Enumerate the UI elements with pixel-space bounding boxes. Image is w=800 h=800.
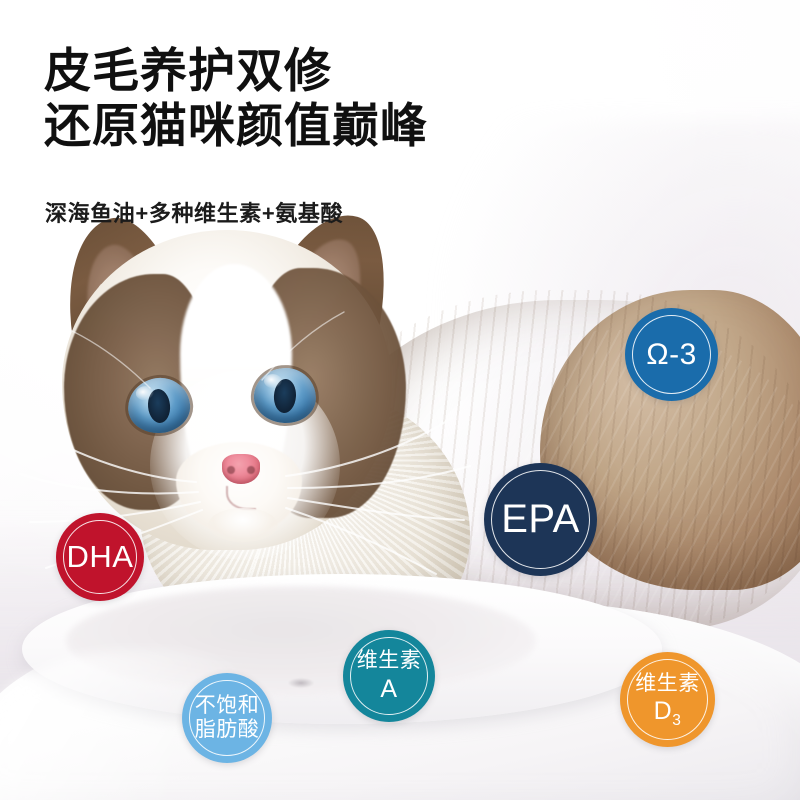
badge-vita-line-1: 维生素 — [357, 649, 422, 672]
subtitle: 深海鱼油+多种维生素+氨基酸 — [45, 196, 343, 228]
bowl-speck — [288, 678, 314, 688]
badge-vitd-letter: D — [654, 697, 673, 725]
badge-vitamin-a-label: 维生素 A — [355, 648, 424, 703]
badge-unsaturated-fatty-acid[interactable]: 不饱和 脂肪酸 — [182, 673, 272, 763]
badge-vitd-subscript: 3 — [672, 712, 681, 729]
badge-dha[interactable]: DHA — [56, 513, 144, 601]
badge-vitamin-d3[interactable]: 维生素 D3 — [620, 652, 715, 747]
badge-unsaturated-fatty-acid-label: 不饱和 脂肪酸 — [193, 694, 262, 743]
headline-line-2: 还原猫咪颜值巅峰 — [44, 99, 428, 154]
badge-dha-label: DHA — [65, 541, 136, 573]
badge-vitd-line-1: 维生素 — [635, 672, 700, 695]
badge-epa[interactable]: EPA — [484, 463, 597, 576]
badge-ufa-line-1: 不饱和 — [195, 694, 260, 717]
headline-line-1: 皮毛养护双修 — [44, 44, 428, 99]
cat-nose — [222, 454, 260, 484]
headline: 皮毛养护双修 还原猫咪颜值巅峰 — [44, 44, 428, 154]
product-banner: 皮毛养护双修 还原猫咪颜值巅峰 深海鱼油+多种维生素+氨基酸 DHA EPA Ω… — [0, 0, 800, 800]
badge-omega-3-label: Ω-3 — [644, 339, 699, 370]
badge-vita-line-2: A — [357, 674, 422, 704]
badge-epa-label: EPA — [499, 499, 582, 541]
nostril-left — [227, 466, 235, 474]
nostril-right — [247, 466, 255, 474]
badge-ufa-line-2: 脂肪酸 — [195, 718, 260, 741]
badge-vitamin-a[interactable]: 维生素 A — [343, 630, 435, 722]
badge-omega-3[interactable]: Ω-3 — [625, 308, 718, 401]
badge-vitd-line-2: D3 — [635, 696, 700, 729]
badge-vitamin-d3-label: 维生素 D3 — [633, 671, 702, 729]
cat-chin — [208, 508, 278, 542]
